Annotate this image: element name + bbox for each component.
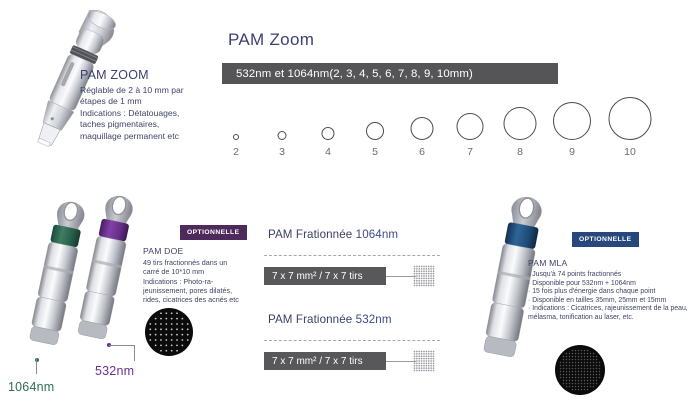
fr-title-wavelength: 532nm bbox=[356, 313, 392, 326]
spot-size-label: 4 bbox=[325, 146, 331, 158]
spot-circle bbox=[233, 134, 239, 140]
connector-line bbox=[386, 361, 416, 362]
fr-title-prefix: PAM Frationnée bbox=[268, 313, 356, 326]
spot-size-label: 7 bbox=[467, 146, 473, 158]
desc-line: maquillage permanent etc bbox=[80, 131, 205, 142]
wavelength-label-532: 532nm bbox=[95, 364, 134, 378]
spot-circle bbox=[504, 107, 537, 140]
spot-size-scale: 2345678910 bbox=[222, 92, 692, 158]
pam-mla-feature-list: · Jusqu'à 74 points fractionnés · Dispon… bbox=[528, 271, 692, 323]
pam-doe-optional-badge: OPTIONNELLE bbox=[180, 225, 247, 240]
spot-size-label: 2 bbox=[233, 146, 239, 158]
spec-text: 7 x 7 mm² / 7 x 7 tirs bbox=[272, 356, 363, 367]
pam-fractionnee-1064-spec-box: 7 x 7 mm² / 7 x 7 tirs bbox=[264, 267, 386, 285]
callout-line-532-v bbox=[134, 345, 135, 361]
desc-line: carré de 10*10 mm bbox=[143, 267, 253, 276]
page-title: PAM Zoom bbox=[228, 30, 314, 50]
spot-size-label: 9 bbox=[569, 146, 575, 158]
fr-title-prefix: PAM Frationnée bbox=[268, 228, 356, 241]
spec-text: 7 x 7 mm² / 7 x 7 tirs bbox=[272, 271, 363, 282]
spot-size-item: 9 bbox=[550, 92, 594, 158]
spot-circle bbox=[553, 102, 591, 140]
divider-dashed bbox=[264, 255, 440, 256]
pam-doe-description: 49 tirs fractionnés dans un carré de 10*… bbox=[143, 258, 253, 304]
pam-doe-title: PAM DOE bbox=[143, 246, 183, 256]
spot-size-label: 3 bbox=[279, 146, 285, 158]
spot-circle bbox=[411, 117, 434, 140]
spot-circle bbox=[278, 131, 287, 140]
pam-fractionnee-1064-title: PAM Frationnée 1064nm bbox=[268, 228, 398, 241]
spot-circle bbox=[457, 113, 484, 140]
pam-zoom-panel-description: Réglable de 2 à 10 mm par étapes de 1 mm… bbox=[80, 85, 205, 142]
pam-mla-optional-badge: OPTIONNELLE bbox=[572, 232, 639, 247]
desc-line: taches pigmentaires, bbox=[80, 119, 205, 130]
spec-bar-text: 532nm et 1064nm(2, 3, 4, 5, 6, 7, 8, 9, … bbox=[236, 68, 473, 80]
desc-line: Indications : Photo-ra- bbox=[143, 277, 253, 286]
spot-circle bbox=[609, 97, 652, 140]
dot-grid-square-icon bbox=[413, 350, 435, 372]
spot-size-item: 3 bbox=[260, 92, 304, 158]
pam-fractionnee-532-spec-box: 7 x 7 mm² / 7 x 7 tirs bbox=[264, 352, 386, 370]
spot-size-item: 5 bbox=[353, 92, 397, 158]
dot-grid-square-icon bbox=[413, 265, 435, 287]
spot-circle bbox=[322, 127, 335, 140]
spot-size-item: 7 bbox=[448, 92, 492, 158]
connector-line bbox=[386, 276, 416, 277]
desc-line: Réglable de 2 à 10 mm par bbox=[80, 85, 205, 96]
desc-line: 49 tirs fractionnés dans un bbox=[143, 258, 253, 267]
product-sheet-page: PAM ZOOM Réglable de 2 à 10 mm par étape… bbox=[0, 0, 692, 415]
pam-doe-handpiece-image bbox=[8, 196, 158, 376]
spot-size-item: 4 bbox=[306, 92, 350, 158]
dot-matrix-circle-icon bbox=[145, 308, 193, 356]
desc-line: Indications : Détatouages, bbox=[80, 108, 205, 119]
wavelength-label-1064: 1064nm bbox=[8, 380, 54, 394]
desc-line: jeunissement, pores dilatés, bbox=[143, 286, 253, 295]
list-item: · Indications : Cicatrices, rajeunisseme… bbox=[528, 305, 692, 322]
pam-zoom-panel-heading: PAM ZOOM bbox=[80, 68, 149, 82]
callout-line-532-h bbox=[109, 345, 135, 346]
desc-line: rides, cicatrices des acnés etc bbox=[143, 295, 253, 304]
spot-size-item: 2 bbox=[214, 92, 258, 158]
list-item: · Disponible en tailles 35mm, 25mm et 15… bbox=[528, 297, 692, 306]
spot-circle bbox=[366, 122, 384, 140]
desc-line: étapes de 1 mm bbox=[80, 96, 205, 107]
list-item: · 15 fois plus d'énergie dans chaque poi… bbox=[528, 288, 692, 297]
pam-fractionnee-532-title: PAM Frationnée 532nm bbox=[268, 313, 392, 326]
pam-mla-title: PAM MLA bbox=[528, 258, 567, 268]
spot-size-label: 5 bbox=[372, 146, 378, 158]
dense-dot-circle-icon bbox=[555, 345, 605, 395]
spot-size-label: 10 bbox=[624, 146, 636, 158]
spot-size-item: 8 bbox=[498, 92, 542, 158]
spec-bar: 532nm et 1064nm(2, 3, 4, 5, 6, 7, 8, 9, … bbox=[222, 63, 558, 84]
spot-size-label: 8 bbox=[517, 146, 523, 158]
callout-line-1064 bbox=[36, 358, 37, 374]
list-item: · Disponible pour 532nm + 1064nm bbox=[528, 280, 692, 289]
list-item: · Jusqu'à 74 points fractionnés bbox=[528, 271, 692, 280]
divider-dashed bbox=[264, 340, 440, 341]
spot-size-item: 6 bbox=[400, 92, 444, 158]
spot-size-item: 10 bbox=[608, 92, 652, 158]
fr-title-wavelength: 1064nm bbox=[356, 228, 399, 241]
spot-size-label: 6 bbox=[419, 146, 425, 158]
